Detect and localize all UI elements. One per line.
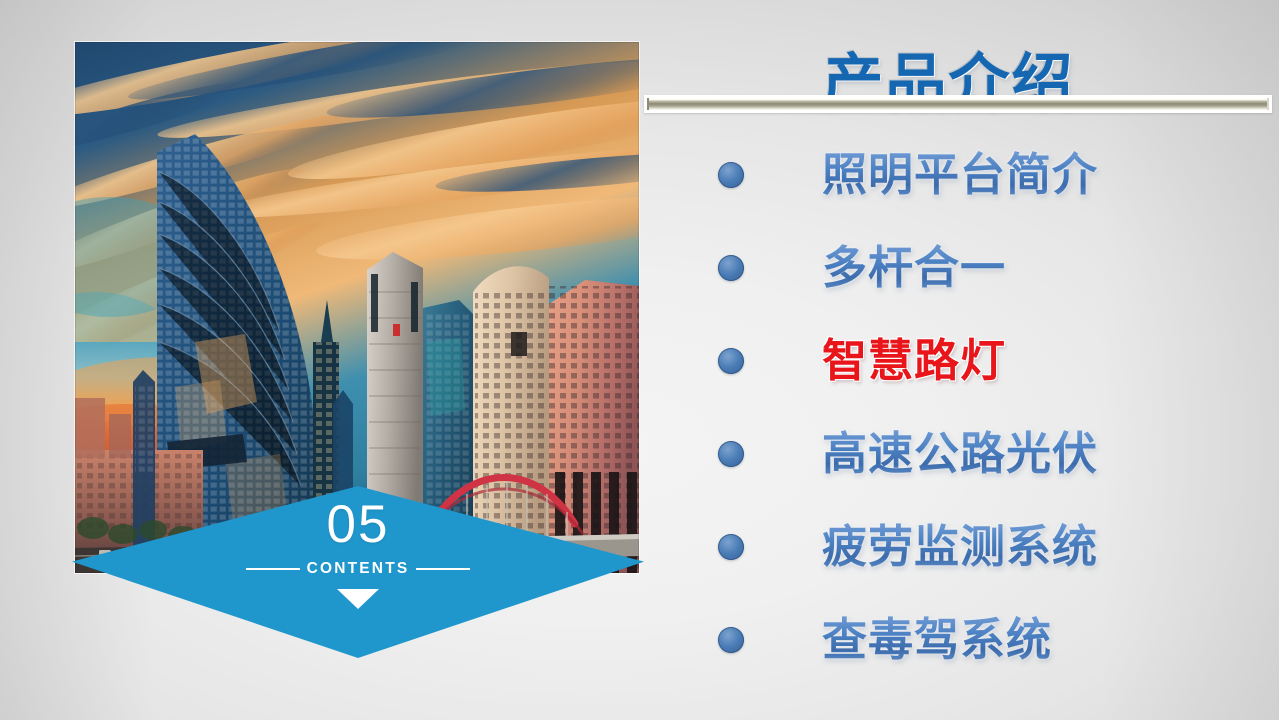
rule-right-icon (416, 568, 470, 570)
bullet-dot-icon (718, 441, 744, 467)
list-item-active[interactable]: 智慧路灯 (640, 314, 1279, 407)
presentation-slide: 05 CONTENTS 产品介绍 照明平台简介 多杆合一 (0, 0, 1279, 720)
bullet-dot-icon (718, 255, 744, 281)
bullet-dot-icon (718, 162, 744, 188)
right-content-panel: 产品介绍 照明平台简介 多杆合一 智慧路灯 高速公路光伏 (640, 0, 1279, 720)
list-item-label: 多杆合一 (822, 244, 1006, 291)
list-item[interactable]: 多杆合一 (640, 221, 1279, 314)
section-number: 05 (327, 498, 390, 551)
list-item-label: 疲劳监测系统 (822, 523, 1098, 570)
contents-label: CONTENTS (307, 561, 410, 577)
list-item[interactable]: 照明平台简介 (640, 128, 1279, 221)
list-item-label: 照明平台简介 (822, 151, 1098, 198)
contents-label-row: CONTENTS (246, 561, 471, 577)
title-divider (644, 95, 1272, 113)
divider-inner-bar (647, 98, 1269, 110)
bullet-dot-icon (718, 627, 744, 653)
bullet-dot-icon (718, 534, 744, 560)
bullet-dot-icon (718, 348, 744, 374)
list-item[interactable]: 查毒驾系统 (640, 593, 1279, 686)
badge-content: 05 CONTENTS (72, 486, 644, 658)
rule-left-icon (246, 568, 300, 570)
list-item[interactable]: 疲劳监测系统 (640, 500, 1279, 593)
list-item[interactable]: 高速公路光伏 (640, 407, 1279, 500)
contents-badge[interactable]: 05 CONTENTS (72, 486, 644, 658)
list-item-label-highlighted: 智慧路灯 (822, 337, 1006, 384)
list-item-label: 高速公路光伏 (822, 430, 1098, 477)
list-item-label: 查毒驾系统 (822, 616, 1052, 663)
agenda-list: 照明平台简介 多杆合一 智慧路灯 高速公路光伏 疲劳监测系统 查毒驾系统 (640, 128, 1279, 708)
triangle-down-icon (337, 589, 379, 609)
